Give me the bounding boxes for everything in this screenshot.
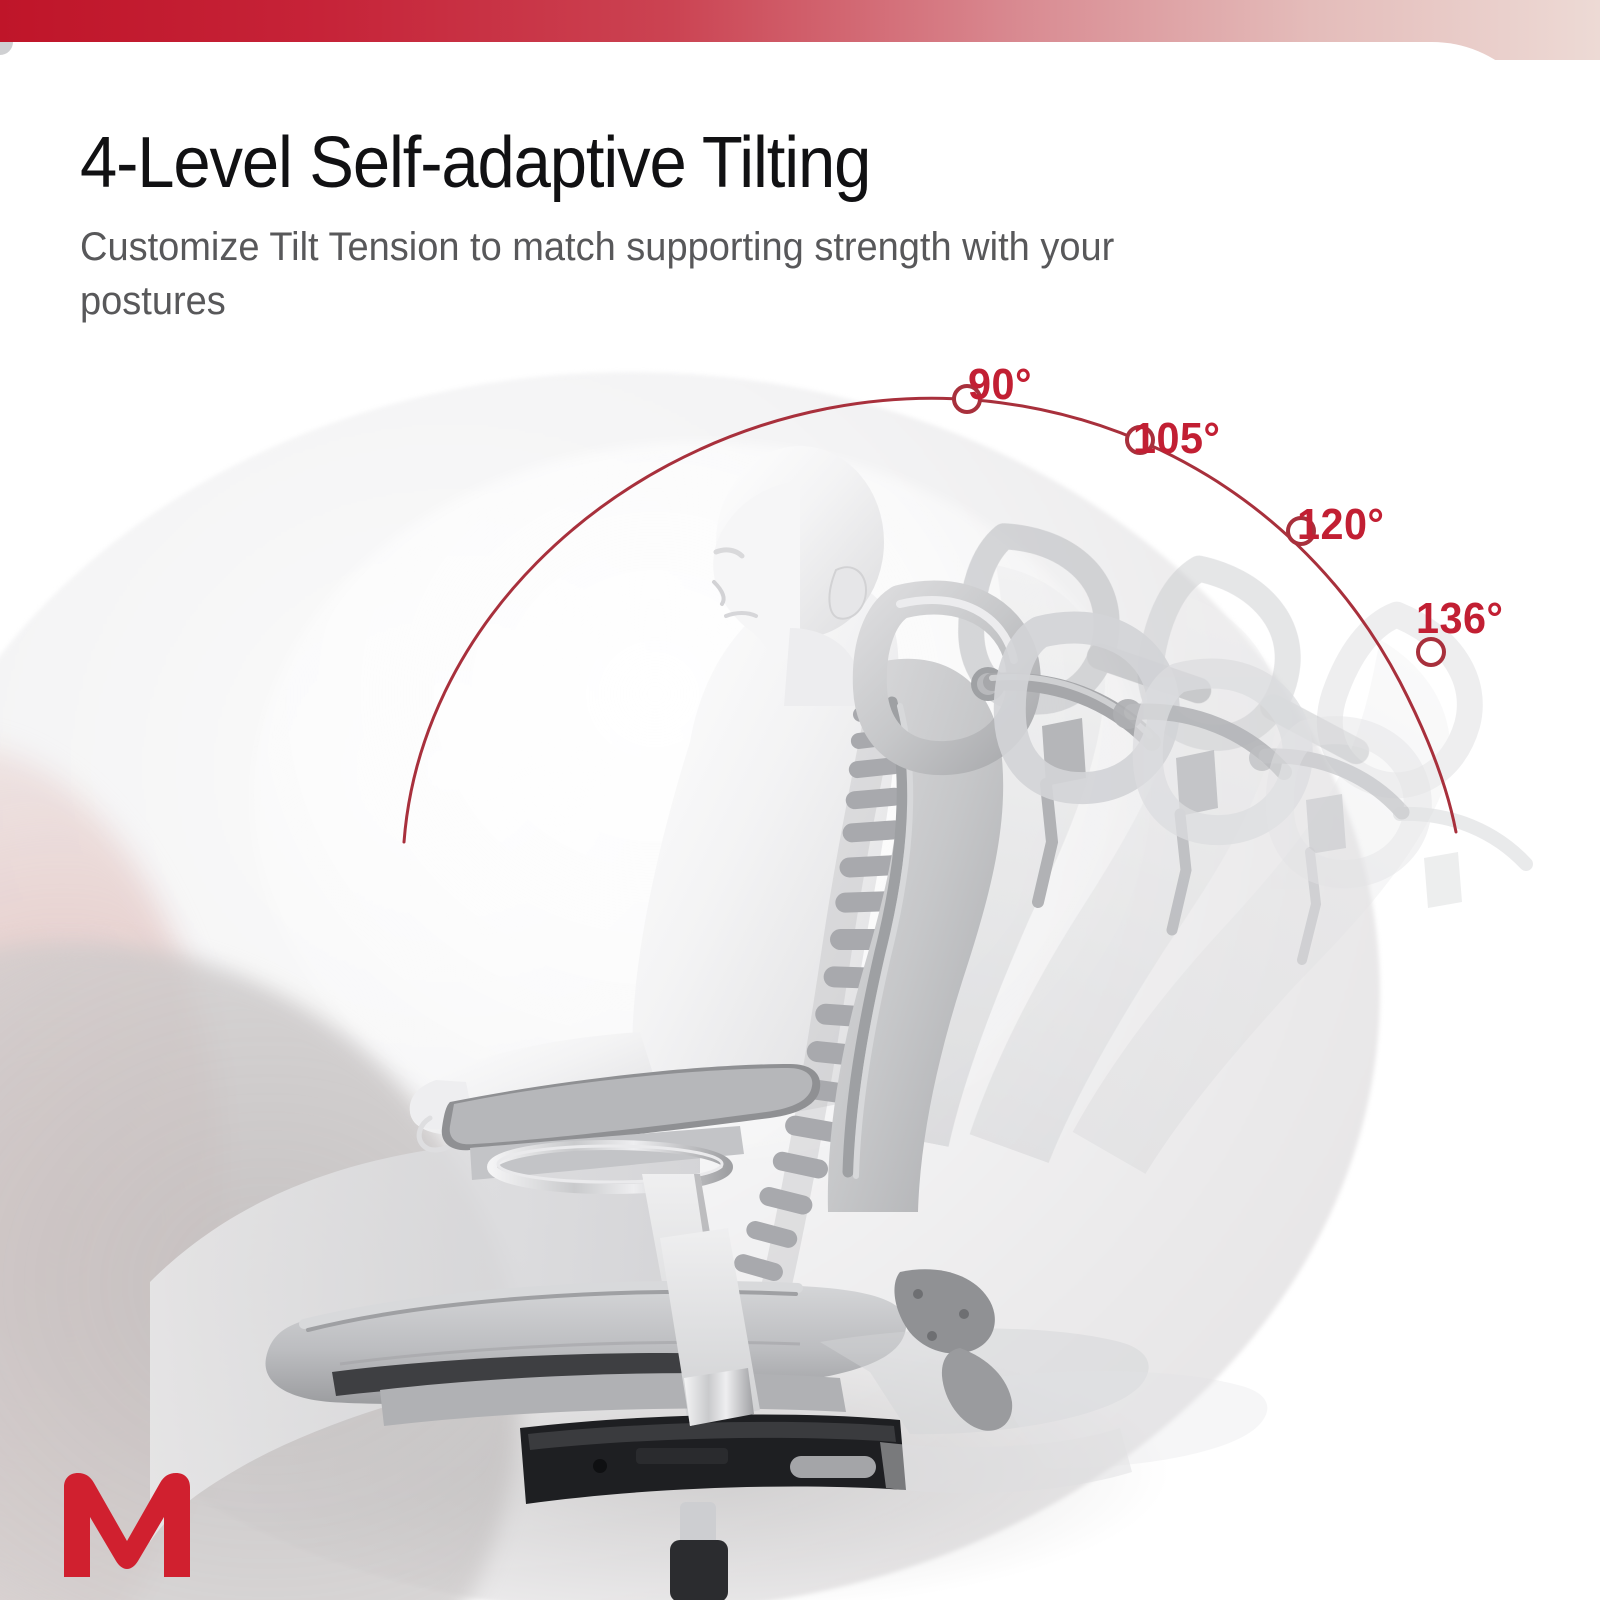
- angle-label-120: 120°: [1297, 500, 1384, 550]
- angle-label-136: 136°: [1416, 594, 1503, 644]
- angle-label-90: 90°: [968, 360, 1032, 410]
- page-title: 4-Level Self-adaptive Tilting: [80, 127, 1131, 199]
- angle-label-105: 105°: [1133, 414, 1220, 464]
- logo-m-icon: [52, 1465, 202, 1585]
- brand-logo-m: [52, 1465, 202, 1585]
- content-card: 4-Level Self-adaptive Tilting Customize …: [0, 42, 1552, 1600]
- page-subtitle: Customize Tilt Tension to match supporti…: [80, 221, 1154, 328]
- header-block: 4-Level Self-adaptive Tilting Customize …: [80, 127, 1210, 328]
